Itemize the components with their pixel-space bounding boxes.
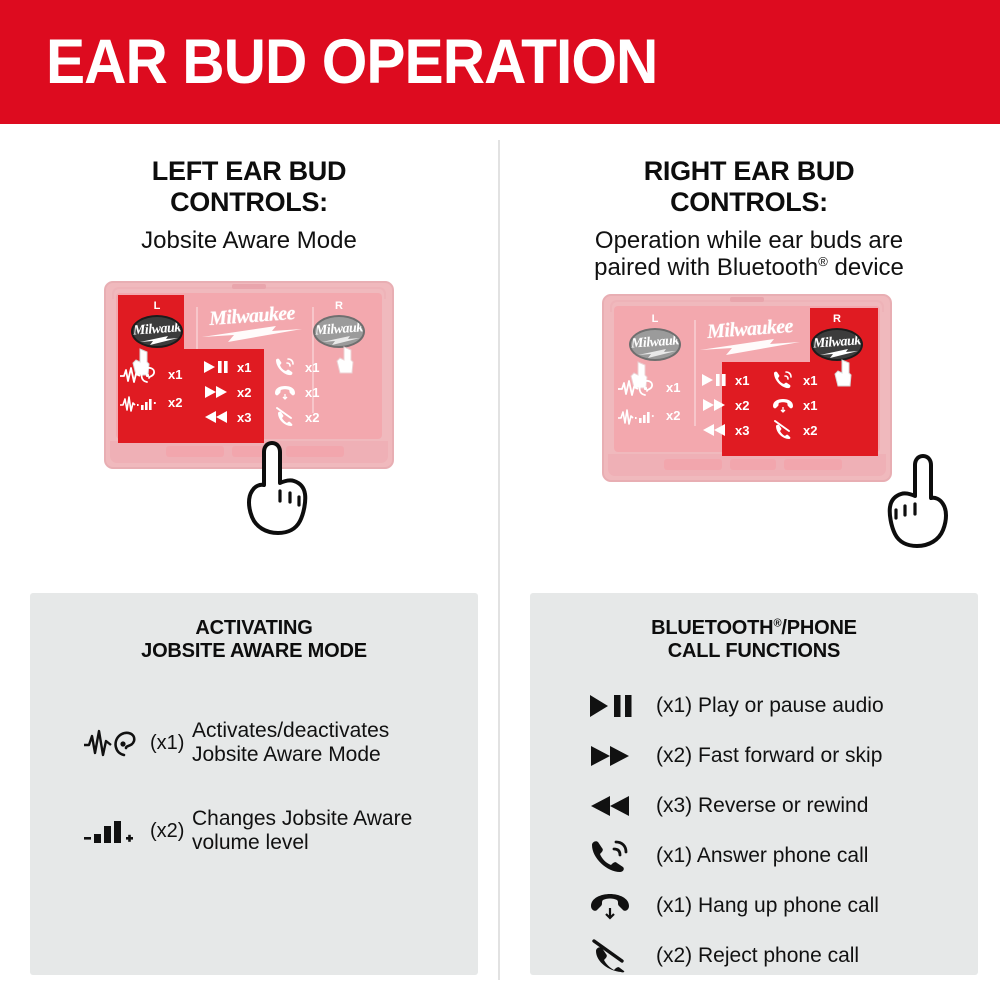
case-aware-count: x2 bbox=[168, 395, 182, 410]
bud-label-right: R bbox=[802, 314, 872, 325]
case-count-play-pause: x1 bbox=[734, 373, 764, 388]
left-case-illustration: L Milwaukee Milwaukee bbox=[0, 273, 498, 518]
left-panel-title-line2: JOBSITE AWARE MODE bbox=[30, 640, 478, 663]
right-panel-title-post: /PHONE bbox=[781, 617, 856, 639]
case-bluetooth-functions-grid: x1 x1 x2 bbox=[698, 368, 884, 443]
left-row-text-line2: Jobsite Aware Mode bbox=[192, 743, 389, 767]
case-jobsite-aware-functions: x1 x2 bbox=[618, 374, 684, 430]
case-count-answer: x1 bbox=[802, 373, 832, 388]
right-panel-title: BLUETOOTH®/PHONE CALL FUNCTIONS bbox=[530, 593, 978, 663]
rewind-icon bbox=[200, 410, 234, 424]
lightning-bolt-icon bbox=[638, 349, 676, 358]
ear-bud-right-icon: Milwaukee bbox=[313, 315, 365, 348]
left-subheading: Jobsite Aware Mode bbox=[0, 228, 498, 255]
left-panel-rows: (x1) Activates/deactivates Jobsite Aware… bbox=[30, 719, 478, 855]
hang-up-icon bbox=[766, 397, 800, 413]
right-panel-title-line2: CALL FUNCTIONS bbox=[530, 640, 978, 663]
right-row-text: (x2) Fast forward or skip bbox=[656, 744, 882, 768]
list-item: (x2) Reject phone call bbox=[588, 931, 978, 981]
left-row-text: Activates/deactivates Jobsite Aware Mode bbox=[192, 719, 389, 767]
page-title: EAR BUD OPERATION bbox=[46, 31, 657, 94]
ear-bud-operation-infographic: EAR BUD OPERATION LEFT EAR BUD CONTROLS:… bbox=[0, 0, 1000, 1000]
ear-bud-case-left-variant: L Milwaukee Milwaukee bbox=[104, 281, 394, 469]
reject-call-icon bbox=[588, 939, 656, 973]
left-column-heading: LEFT EAR BUD CONTROLS: Jobsite Aware Mod… bbox=[0, 140, 498, 255]
list-item: (x1) Answer phone call bbox=[588, 831, 978, 881]
case-count-rewind: x3 bbox=[236, 410, 266, 425]
registered-mark: ® bbox=[818, 254, 828, 269]
list-item: (x1) Play or pause audio bbox=[588, 681, 978, 731]
bud-label-left: L bbox=[620, 314, 690, 325]
case-aware-count: x1 bbox=[168, 367, 182, 382]
play-pause-icon bbox=[588, 693, 656, 719]
lightning-bolt-icon bbox=[820, 349, 858, 358]
list-item: (x1) Activates/deactivates Jobsite Aware… bbox=[84, 719, 478, 767]
fast-forward-icon bbox=[588, 743, 656, 769]
right-subheading: Operation while ear buds are paired with… bbox=[500, 228, 998, 282]
left-row-text-line1: Activates/deactivates bbox=[192, 719, 389, 743]
right-row-text: (x2) Reject phone call bbox=[656, 944, 859, 968]
bud-slot-left: L Milwaukee bbox=[620, 314, 690, 361]
reject-call-icon bbox=[268, 407, 302, 427]
reject-call-icon bbox=[766, 420, 800, 440]
left-heading-line2: CONTROLS: bbox=[0, 187, 498, 218]
ear-bud-right-icon: Milwaukee bbox=[811, 328, 863, 361]
ear-waveform-icon bbox=[84, 728, 150, 758]
play-pause-icon bbox=[698, 373, 732, 387]
ear-bud-left-icon: Milwaukee bbox=[629, 328, 681, 361]
fast-forward-icon bbox=[200, 385, 234, 399]
fast-forward-icon bbox=[698, 398, 732, 412]
right-heading-line1: RIGHT EAR BUD bbox=[500, 156, 998, 187]
rewind-icon bbox=[698, 423, 732, 437]
right-row-text: (x1) Hang up phone call bbox=[656, 894, 879, 918]
hang-up-icon bbox=[588, 891, 656, 921]
list-item: (x2) Fast forward or skip bbox=[588, 731, 978, 781]
case-count-reject: x2 bbox=[802, 423, 832, 438]
case-aware-count: x2 bbox=[666, 408, 680, 423]
right-case-illustration: L Milwaukee Milwaukee bbox=[500, 286, 998, 531]
right-row-text: (x1) Answer phone call bbox=[656, 844, 868, 868]
hang-up-icon bbox=[268, 384, 302, 400]
header-banner: EAR BUD OPERATION bbox=[0, 0, 1000, 124]
answer-call-icon bbox=[766, 370, 800, 390]
bud-label-left: L bbox=[122, 301, 192, 312]
right-subheading-line2: paired with Bluetooth® device bbox=[500, 255, 998, 282]
right-ear-bud-column: RIGHT EAR BUD CONTROLS: Operation while … bbox=[500, 140, 998, 1000]
ear-bud-left-icon: Milwaukee bbox=[131, 315, 183, 348]
right-subheading-post: device bbox=[828, 254, 904, 281]
right-row-text: (x3) Reverse or rewind bbox=[656, 794, 868, 818]
case-aware-row: x1 bbox=[618, 374, 684, 402]
activating-jobsite-aware-panel: ACTIVATING JOBSITE AWARE MODE (x1) Activ… bbox=[30, 593, 478, 975]
answer-call-icon bbox=[588, 839, 656, 873]
lightning-bolt-icon bbox=[140, 336, 178, 345]
volume-bars-icon bbox=[84, 816, 150, 846]
rewind-icon bbox=[588, 793, 656, 819]
case-count-fast-forward: x2 bbox=[236, 385, 266, 400]
answer-call-icon bbox=[268, 357, 302, 377]
volume-bars-icon bbox=[120, 393, 164, 413]
right-panel-title-pre: BLUETOOTH bbox=[651, 617, 773, 639]
list-item: (x1) Hang up phone call bbox=[588, 881, 978, 931]
case-aware-count: x1 bbox=[666, 380, 680, 395]
ear-waveform-icon bbox=[618, 378, 662, 398]
left-panel-title: ACTIVATING JOBSITE AWARE MODE bbox=[30, 593, 478, 663]
list-item: (x3) Reverse or rewind bbox=[588, 781, 978, 831]
right-column-heading: RIGHT EAR BUD CONTROLS: Operation while … bbox=[500, 140, 998, 282]
right-heading-line2: CONTROLS: bbox=[500, 187, 998, 218]
case-count-fast-forward: x2 bbox=[734, 398, 764, 413]
bluetooth-phone-call-functions-panel: BLUETOOTH®/PHONE CALL FUNCTIONS (x1) Pla… bbox=[530, 593, 978, 975]
right-row-text: (x1) Play or pause audio bbox=[656, 694, 884, 718]
case-count-hang-up: x1 bbox=[304, 385, 334, 400]
right-subheading-pre: paired with Bluetooth bbox=[594, 254, 818, 281]
left-heading-line1: LEFT EAR BUD bbox=[0, 156, 498, 187]
left-row-count: (x2) bbox=[150, 820, 192, 843]
bud-label-right: R bbox=[304, 301, 374, 312]
bud-slot-left: L Milwaukee bbox=[122, 301, 192, 348]
left-row-count: (x1) bbox=[150, 732, 192, 755]
left-ear-bud-column: LEFT EAR BUD CONTROLS: Jobsite Aware Mod… bbox=[0, 140, 498, 1000]
left-row-text: Changes Jobsite Aware volume level bbox=[192, 807, 412, 855]
case-aware-row: x1 bbox=[120, 361, 186, 389]
case-bluetooth-functions-grid: x1 x1 x2 bbox=[200, 355, 386, 430]
list-item: (x2) Changes Jobsite Aware volume level bbox=[84, 807, 478, 855]
case-count-reject: x2 bbox=[304, 410, 334, 425]
case-aware-row: x2 bbox=[120, 389, 186, 417]
right-subheading-line1: Operation while ear buds are bbox=[500, 228, 998, 255]
left-row-text-line1: Changes Jobsite Aware bbox=[192, 807, 412, 831]
case-count-answer: x1 bbox=[304, 360, 334, 375]
volume-bars-icon bbox=[618, 406, 662, 426]
right-panel-title-line1: BLUETOOTH®/PHONE bbox=[530, 617, 978, 640]
bud-slot-right: R Milwaukee bbox=[802, 314, 872, 361]
left-row-text-line2: volume level bbox=[192, 831, 412, 855]
ear-bud-case-right-variant: L Milwaukee Milwaukee bbox=[602, 294, 892, 482]
case-count-hang-up: x1 bbox=[802, 398, 832, 413]
case-count-play-pause: x1 bbox=[236, 360, 266, 375]
bud-slot-right: R Milwaukee bbox=[304, 301, 374, 348]
case-count-rewind: x3 bbox=[734, 423, 764, 438]
lightning-bolt-icon bbox=[322, 336, 360, 345]
pointing-hand-large-icon bbox=[244, 439, 318, 535]
left-panel-title-line1: ACTIVATING bbox=[30, 617, 478, 640]
case-aware-row: x2 bbox=[618, 402, 684, 430]
right-panel-rows: (x1) Play or pause audio (x2) Fast forwa… bbox=[530, 681, 978, 981]
case-jobsite-aware-functions: x1 x2 bbox=[120, 361, 186, 417]
ear-waveform-icon bbox=[120, 365, 164, 385]
pointing-hand-large-icon bbox=[877, 452, 951, 548]
play-pause-icon bbox=[200, 360, 234, 374]
